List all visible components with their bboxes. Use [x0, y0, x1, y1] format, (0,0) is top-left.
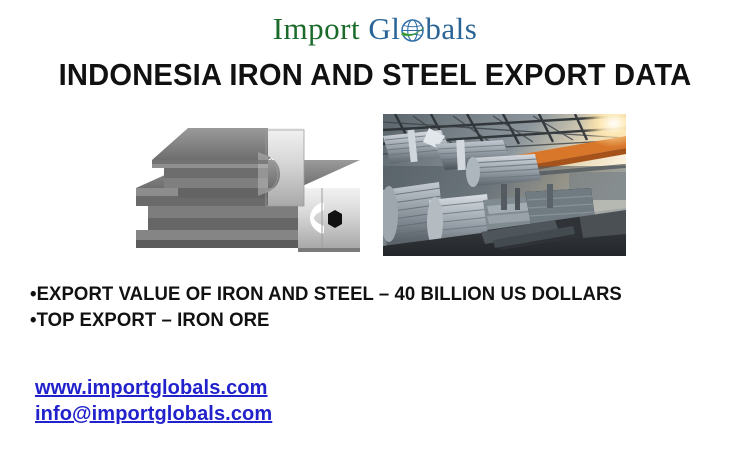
bullet-list: •EXPORT VALUE OF IRON AND STEEL – 40 BIL… — [30, 281, 730, 333]
globe-icon — [400, 18, 425, 43]
steel-warehouse-photo — [383, 114, 626, 256]
logo-word-gl: Gl — [368, 11, 400, 46]
website-link[interactable]: www.importglobals.com — [35, 375, 272, 401]
logo-word-bals: bals — [425, 11, 477, 46]
email-link[interactable]: info@importglobals.com — [35, 401, 272, 427]
bullet-item-export-value: •EXPORT VALUE OF IRON AND STEEL – 40 BIL… — [30, 281, 695, 307]
steel-beams-illustration — [108, 118, 360, 263]
contact-links: www.importglobals.com info@importglobals… — [35, 375, 272, 427]
logo-word-import: Import — [273, 11, 360, 46]
bullet-item-top-export: •TOP EXPORT – IRON ORE — [30, 307, 695, 333]
slide-canvas: Import Gl bals INDONESIA IRON AND STEEL … — [0, 0, 750, 450]
page-title: INDONESIA IRON AND STEEL EXPORT DATA — [23, 57, 728, 93]
brand-logo: Import Gl bals — [0, 10, 750, 48]
